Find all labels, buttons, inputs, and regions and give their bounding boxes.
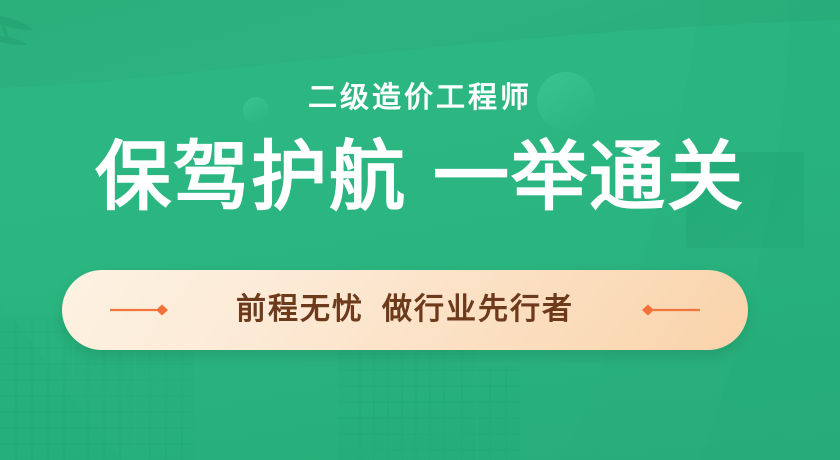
promo-banner: 二级造价工程师 保驾护航一举通关 前程无忧做行业先行者	[0, 0, 840, 460]
headline-part-2: 一举通关	[433, 135, 745, 220]
banner-headline: 保驾护航一举通关	[0, 138, 840, 218]
tagline-pill[interactable]: 前程无忧做行业先行者	[62, 270, 748, 350]
headline-part-1: 保驾护航	[95, 135, 407, 220]
tagline-part-2: 做行业先行者	[382, 293, 574, 326]
arrow-right-icon	[110, 303, 172, 317]
arrow-left-icon	[638, 303, 700, 317]
banner-subtitle: 二级造价工程师	[0, 84, 840, 113]
tagline-part-1: 前程无忧	[236, 293, 364, 326]
banner-content: 二级造价工程师 保驾护航一举通关 前程无忧做行业先行者	[0, 0, 840, 460]
tagline-text: 前程无忧做行业先行者	[236, 295, 574, 325]
